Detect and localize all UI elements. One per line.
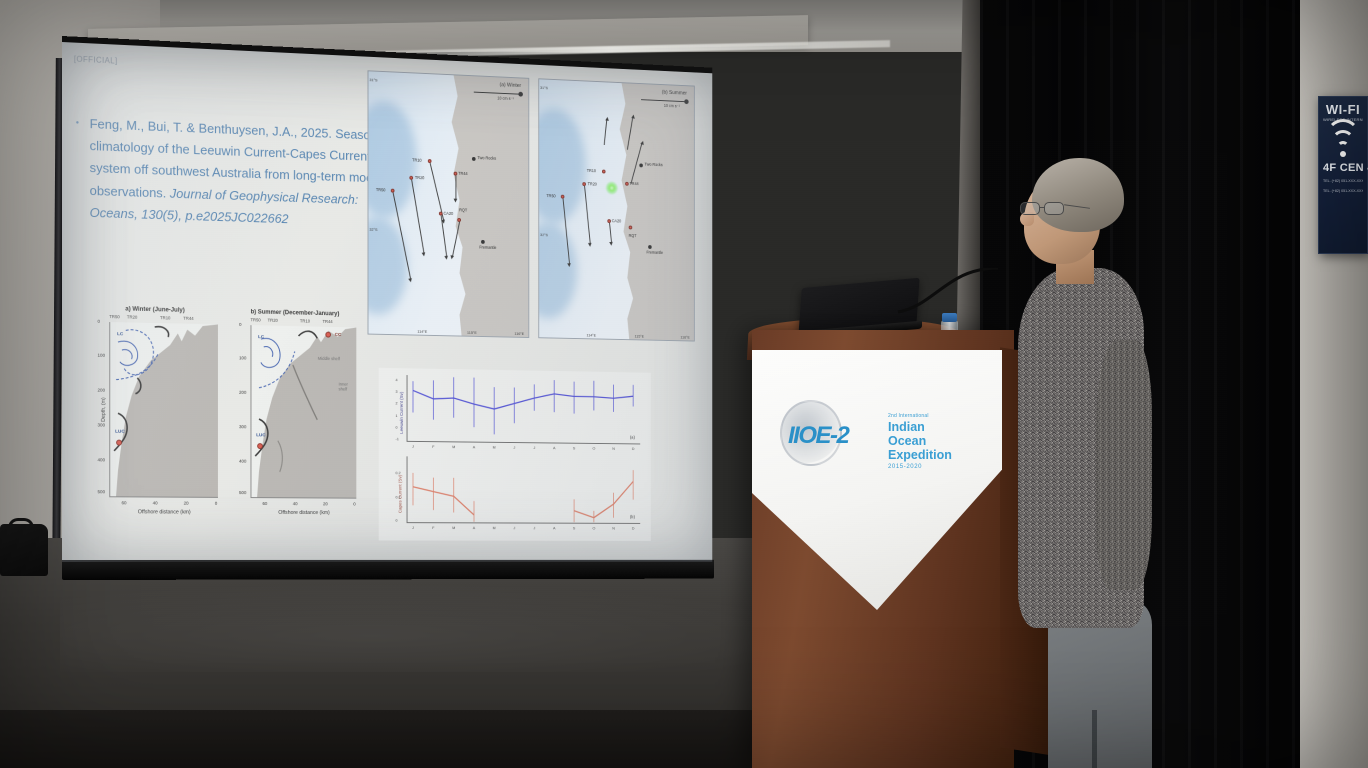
current-label-cc: CC (335, 333, 342, 338)
presenter (1000, 150, 1160, 768)
presenter-glasses (1020, 202, 1072, 216)
section-summer-xlabel: Offshore distance (km) (278, 510, 329, 516)
presenter-leg-seam (1092, 710, 1097, 768)
mooring-label: TR20 (127, 314, 137, 319)
town-label: Two Rocks (645, 162, 663, 167)
mooring-label: TR20 (415, 175, 424, 180)
mooring-label: TR44 (458, 171, 467, 176)
lon-tick: 116°E (514, 331, 524, 336)
x-tick: M (493, 525, 496, 530)
laser-pointer-dot (606, 181, 618, 195)
wifi-contact-line-1: TEL. (+82) 051-XXX-XXXX (1323, 179, 1363, 184)
iioe2-logo: IIOE-2 2nd International Indian Ocean Ex… (780, 412, 940, 472)
chart-b-panel-label: (b) (630, 514, 635, 519)
map-panel-group: (a) Winter 10 cm s⁻¹ 31°S 32°S 114°E 115… (368, 70, 702, 349)
y-tick: 1 (395, 413, 397, 418)
map-winter-label: (a) Winter (500, 82, 521, 89)
conference-room-photo: WI-FI WIRELESS INTERNET ACCESS 4F CEN 4-… (0, 0, 1368, 768)
x-tick: A (473, 444, 475, 449)
y-tick: 400 (97, 457, 105, 462)
x-tick: O (592, 526, 595, 531)
chart-b-x-ticks: JFMAMJJASOND (408, 527, 641, 528)
mooring-label: TR20 (268, 318, 278, 323)
y-tick: 3 (395, 389, 397, 394)
x-tick: S (573, 446, 575, 451)
x-tick: O (592, 446, 595, 451)
chart-b-plot-area: (b) JFMAMJJASOND (407, 456, 641, 524)
chart-capes-current: Capes Current (Sv) (b) JFMAMJJASOND 00.1… (382, 453, 645, 535)
x-tick: J (533, 445, 535, 450)
chart-leeuwin-current: Leeuwin Current (Sv) (a) JFMAMJJASOND -1… (382, 372, 645, 456)
water-bottle-cap (942, 313, 957, 322)
y-tick: 400 (239, 459, 246, 464)
lon-tick: 114°E (587, 333, 597, 338)
mooring-label: RQT (459, 207, 467, 212)
town-label: Fremantle (646, 250, 663, 255)
y-tick: 300 (97, 422, 105, 427)
citation-authors: Feng, M., Bui, T. & Benthuysen, J.A., 20… (90, 116, 332, 141)
x-tick: A (473, 525, 475, 530)
lon-tick: 114°E (417, 329, 427, 334)
mooring-label: TR10 (300, 318, 310, 323)
section-summer: b) Summer (December-January) TR50 TR20 T… (229, 308, 360, 535)
x-tick: 40 (293, 501, 298, 506)
mooring-label: TR10 (160, 315, 170, 320)
projection-screen: [OFFICIAL] • Feng, M., Bui, T. & Benthuy… (62, 42, 712, 562)
shelf-label-middle: Middle shelf (318, 356, 340, 361)
y-tick: 200 (239, 390, 246, 395)
x-tick: N (612, 526, 615, 531)
current-label-luc: LUC (115, 430, 125, 435)
chart-a-panel-label: (a) (630, 435, 635, 440)
shelf-label-inner: Inner shelf (339, 382, 357, 392)
x-tick: 0 (353, 502, 355, 507)
current-label-lc: LC (117, 332, 123, 337)
current-label-lc: LC (258, 335, 264, 340)
x-tick: J (533, 525, 535, 530)
x-tick: J (513, 445, 515, 450)
section-winter-plot: Depth, (m) 0 100 200 300 400 500 60 40 2… (109, 322, 218, 498)
mooring-label: TR44 (323, 319, 333, 324)
chart-a-plot-area: (a) JFMAMJJASOND (407, 375, 641, 444)
wifi-information-sign: WI-FI WIRELESS INTERNET ACCESS 4F CEN 4-… (1318, 96, 1368, 254)
lat-tick: 32°S (540, 232, 548, 237)
cc-marker (325, 332, 331, 338)
y-tick: 500 (239, 490, 246, 495)
wifi-sign-title: WI-FI (1323, 103, 1363, 116)
floor-light-reflection (60, 582, 840, 672)
seafloor-profile (110, 322, 218, 497)
logo-acronym: IIOE-2 (788, 422, 848, 450)
mooring-label: TR10 (587, 168, 596, 173)
banner-line-3: Expedition (888, 448, 952, 462)
banner-years: 2015-2020 (888, 464, 952, 471)
velocity-scale-label: 10 cm s⁻¹ (664, 103, 680, 108)
logo-wordmark: 2nd International Indian Ocean Expeditio… (888, 414, 952, 470)
mooring-label: TR50 (546, 193, 555, 198)
citation-volume-pages: , 130(5), p.e2025JC022662 (134, 206, 288, 226)
lon-tick: 116°E (680, 335, 689, 340)
mooring-label: CA20 (444, 211, 454, 216)
screen-bottom-weight-bar (62, 560, 714, 580)
presenter-hair (1032, 158, 1124, 232)
mooring-label: TR20 (588, 181, 597, 186)
lon-tick: 115°E (467, 330, 477, 335)
mooring-label: TR50 (376, 187, 386, 192)
y-tick: 0 (97, 319, 100, 324)
y-tick: 0 (395, 518, 397, 523)
section-winter-xlabel: Offshore distance (km) (138, 509, 191, 515)
chart-a-svg (408, 375, 641, 443)
equipment-bag (0, 524, 48, 576)
x-tick: 60 (121, 500, 126, 505)
banner-line-2: Indian Ocean (888, 420, 952, 448)
town-label: Fremantle (479, 245, 496, 250)
x-tick: D (632, 526, 635, 531)
y-tick: 4 (395, 377, 397, 382)
chart-a-x-ticks: JFMAMJJASOND (408, 446, 641, 449)
mooring-label: TR50 (250, 317, 260, 322)
map-summer-label: (b) Summer (662, 90, 687, 97)
x-tick: J (412, 525, 414, 530)
x-tick: S (573, 526, 575, 531)
y-tick: 0 (239, 322, 241, 327)
y-tick: 200 (97, 388, 105, 393)
wifi-icon (1323, 128, 1363, 158)
chart-a-ylabel: Leeuwin Current (Sv) (399, 392, 404, 434)
lat-tick: 31°S (369, 77, 377, 82)
x-tick: A (553, 526, 555, 531)
x-tick: J (412, 444, 414, 449)
transport-timeseries-group: Leeuwin Current (Sv) (a) JFMAMJJASOND -1… (379, 368, 651, 541)
chart-b-svg (408, 456, 641, 523)
luc-marker (116, 440, 122, 446)
bullet-icon: • (76, 116, 79, 131)
x-tick: M (452, 444, 455, 449)
y-tick: 0.1 (395, 494, 400, 499)
x-tick: 20 (323, 501, 328, 506)
mooring-label: CA20 (612, 218, 621, 223)
mooring-label: RQT (629, 233, 637, 238)
y-tick: 100 (97, 353, 105, 358)
x-tick: 40 (153, 500, 158, 505)
map-winter: (a) Winter 10 cm s⁻¹ 31°S 32°S 114°E 115… (368, 70, 530, 338)
gooseneck-microphone (896, 268, 1000, 316)
x-tick: M (452, 525, 455, 530)
x-tick: D (632, 446, 635, 451)
current-label-luc: LUC (256, 433, 265, 438)
seafloor-profile (251, 325, 356, 498)
section-winter-ylabel: Depth, (m) (101, 397, 107, 422)
x-tick: A (553, 445, 555, 450)
mooring-label: TR10 (412, 158, 421, 163)
x-tick: J (513, 525, 515, 530)
town-label: Two Rocks (477, 155, 496, 161)
x-tick: F (432, 525, 434, 530)
classification-marking: [OFFICIAL] (74, 55, 118, 66)
y-tick: 0 (395, 425, 397, 430)
section-winter: a) Winter (June-July) TR50 TR20 TR10 TR4… (88, 305, 222, 535)
x-tick: N (612, 446, 615, 451)
y-tick: 2 (395, 401, 397, 406)
x-tick: 60 (262, 501, 267, 506)
x-tick: F (432, 444, 434, 449)
y-tick: 500 (97, 489, 105, 494)
projected-slide: [OFFICIAL] • Feng, M., Bui, T. & Benthuy… (62, 42, 712, 562)
mooring-label: TR50 (109, 314, 120, 319)
microphone-arm-icon (896, 268, 1000, 316)
mooring-label: TR44 (183, 316, 193, 321)
section-summer-plot: 0 100 200 300 400 500 60 40 20 0 Offshor… (250, 325, 356, 498)
slide-citation: • Feng, M., Bui, T. & Benthuysen, J.A., … (90, 113, 396, 233)
wifi-room-code: 4F CEN 4- (1323, 162, 1363, 174)
velocity-scale-label: 10 cm s⁻¹ (497, 96, 514, 102)
depth-section-group: a) Winter (June-July) TR50 TR20 TR10 TR4… (84, 305, 362, 535)
lon-tick: 115°E (635, 334, 644, 339)
x-tick: M (493, 445, 496, 450)
y-tick: 0.2 (395, 471, 400, 476)
presenter-arm (1096, 340, 1152, 590)
y-tick: -1 (395, 436, 398, 441)
x-tick: 20 (184, 501, 189, 506)
lat-tick: 31°S (540, 85, 548, 90)
wifi-contact-line-2: TEL. (+82) 051-XXX-XXXX (1323, 189, 1363, 194)
x-tick: 0 (215, 501, 217, 506)
y-tick: 100 (239, 355, 246, 360)
y-tick: 300 (239, 424, 246, 429)
map-summer: (b) Summer 10 cm s⁻¹ 31°S 32°S 114°E 115… (538, 78, 694, 341)
luc-marker (257, 443, 263, 449)
lat-tick: 32°S (369, 227, 377, 232)
